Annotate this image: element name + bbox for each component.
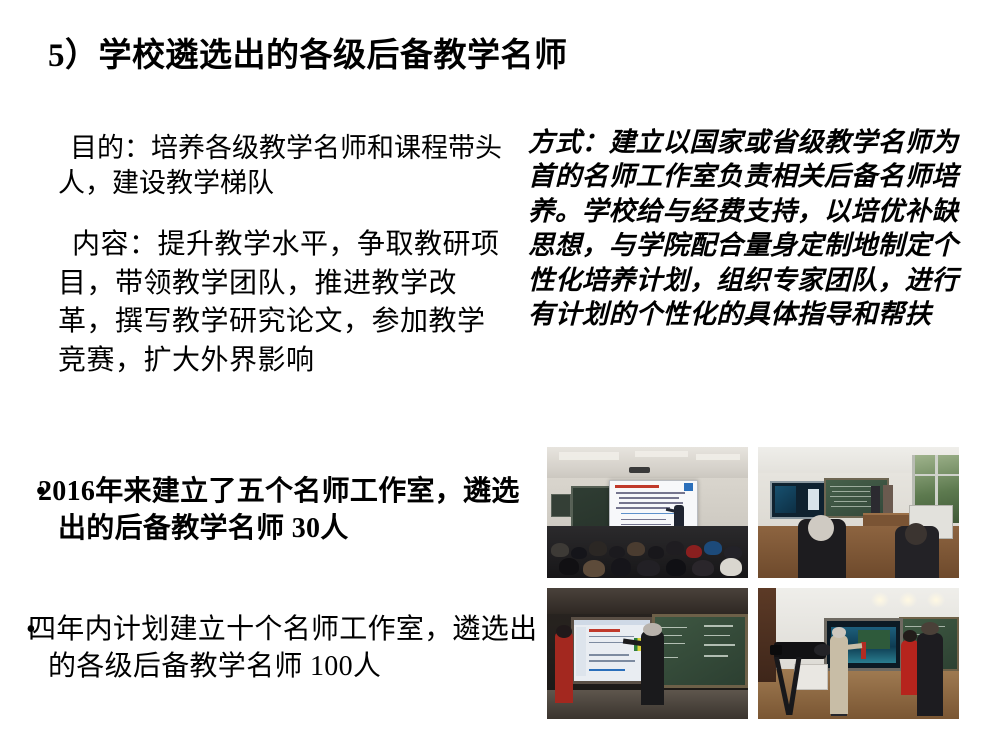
slide: 5）学校遴选出的各级后备教学名师 目的：培养各级教学名师和课程带头人，建设教学梯… (0, 0, 1000, 750)
chalk-formula (704, 625, 733, 626)
student-head (692, 560, 714, 576)
slide-text-line (621, 519, 666, 521)
student-head (686, 545, 702, 558)
student-head (627, 542, 645, 556)
student-head (720, 558, 742, 576)
student-head (551, 543, 569, 557)
screen-figure (808, 489, 819, 510)
purpose-paragraph: 目的：培养各级教学名师和课程带头人，建设教学梯队 (58, 131, 510, 200)
slide-text-line (616, 492, 685, 494)
chalk-formula (660, 627, 687, 628)
student-head (609, 546, 625, 559)
bullet-item-2: • 四年内计划建立十个名师工作室，遴选出的各级后备教学名师 100人 (26, 612, 546, 686)
woman-red-sweater (555, 631, 573, 703)
slide-logo (684, 483, 694, 491)
woman-head (556, 625, 572, 638)
chalk-formula (704, 655, 728, 656)
student-audience (547, 526, 748, 578)
page-title: 5）学校遴选出的各级后备教学名师 (48, 36, 948, 76)
slide-text-line (621, 513, 678, 515)
ceiling-light (871, 592, 889, 608)
document-line (589, 654, 629, 656)
ceiling-light (927, 592, 945, 608)
student-head (724, 546, 742, 559)
ceiling-panel (559, 452, 619, 460)
chalkboard (652, 614, 748, 688)
observer-head (921, 622, 939, 635)
student-head (666, 541, 684, 555)
chalk-line (832, 491, 869, 492)
photo-interactive-whiteboard (547, 588, 748, 719)
photo-lecture-hall (547, 447, 748, 578)
desk (863, 513, 915, 527)
chalk-line (830, 496, 873, 497)
student-head (666, 559, 686, 576)
ceiling-light (899, 592, 917, 608)
bullet-text: 四年内计划建立十个名师工作室，遴选出的各级后备教学名师 100人 (48, 612, 546, 686)
chalk-line (831, 506, 872, 507)
document-line (589, 669, 624, 671)
chalk-formula (704, 644, 735, 645)
student-head (637, 560, 659, 576)
content-paragraph: 内容：提升教学水平，争取教研项目，带领教学团队，推进教学改革，撰写教学研究论文，… (58, 226, 510, 381)
student-head (559, 558, 579, 575)
projector (629, 467, 649, 474)
document-line (589, 636, 633, 638)
chalk-formula (660, 643, 685, 644)
app-sidebar (576, 627, 587, 676)
slide-heading-line (615, 485, 658, 488)
upper-wall (547, 588, 748, 614)
chalk-formula (662, 657, 678, 658)
projection-screen (609, 480, 697, 532)
slide-text-line (619, 502, 683, 504)
right-text-column: 方式：建立以国家或省级教学名师为首的名师工作室负责相关后备名师培养。学校给与经费… (528, 126, 970, 333)
slide-text-line (616, 507, 670, 509)
screen-video (775, 486, 796, 513)
observer-dark-jacket (917, 633, 943, 717)
photo-grid (547, 447, 959, 719)
slide-text-line (619, 497, 679, 499)
student-head (589, 541, 607, 556)
student-head (704, 541, 722, 555)
display-screen (770, 481, 826, 519)
photo-video-recording (758, 588, 959, 719)
left-text-column: 目的：培养各级教学名师和课程带头人，建设教学梯队 内容：提升教学水平，争取教研项… (58, 131, 510, 381)
side-board (551, 494, 571, 517)
method-paragraph: 方式：建立以国家或省级教学名师为首的名师工作室负责相关后备名师培养。学校给与经费… (528, 126, 970, 333)
bullet-text: 2016年来建立了五个名师工作室，遴选出的后备教学名师 30人 (58, 474, 536, 548)
bullet-item-1: • 2016年来建立了五个名师工作室，遴选出的后备教学名师 30人 (36, 474, 536, 548)
ceiling-panel (696, 454, 740, 461)
document-line (589, 660, 635, 662)
chalk-formula (704, 635, 729, 636)
app-toolbar (574, 620, 650, 626)
camera-viewfinder (770, 645, 782, 655)
observer-head (905, 523, 927, 545)
student-head (648, 546, 664, 559)
observer-head (903, 630, 917, 642)
student-head (611, 558, 631, 576)
photo-classroom-observation (758, 447, 959, 578)
document-heading (589, 629, 620, 632)
chalk-line (834, 501, 868, 502)
ceiling-panel (635, 451, 687, 458)
student-head (571, 547, 587, 560)
door (758, 588, 776, 682)
student-head (583, 560, 605, 577)
